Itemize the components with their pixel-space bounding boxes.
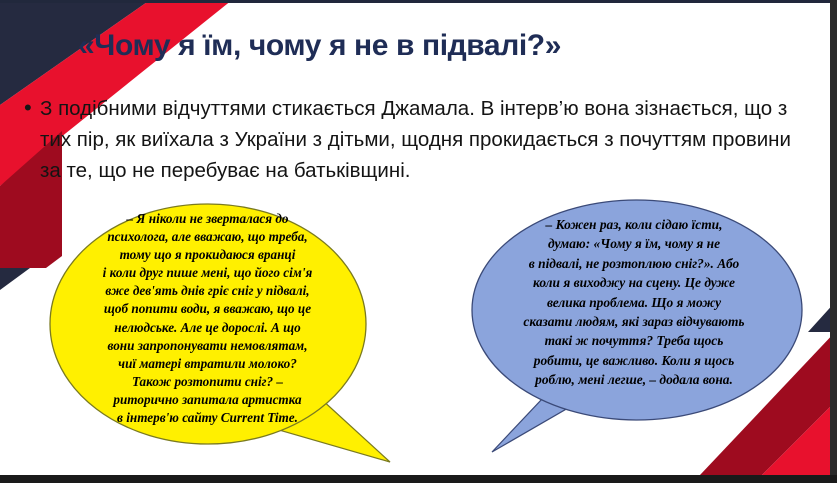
slide-frame-top-edge bbox=[0, 0, 837, 3]
dark-red-band-left-lower bbox=[0, 256, 62, 268]
yellow-bubble-body bbox=[50, 204, 366, 444]
slide-canvas: «Чому я їм, чому я не в підвалі?» • З по… bbox=[0, 0, 837, 483]
body-paragraph-block: • З подібними відчуттями стикається Джам… bbox=[24, 93, 814, 186]
slide-frame-right-edge bbox=[830, 0, 837, 483]
blue-bubble-body bbox=[472, 200, 802, 420]
navy-sliver-left bbox=[0, 268, 30, 290]
slide-frame-bottom-edge bbox=[0, 475, 837, 483]
slide-title: «Чому я їм, чому я не в підвалі?» bbox=[78, 29, 778, 63]
decorative-corner-graphics bbox=[0, 0, 837, 483]
bullet-point-icon: • bbox=[24, 93, 40, 123]
body-paragraph-text: З подібними відчуттями стикається Джамал… bbox=[40, 93, 814, 186]
